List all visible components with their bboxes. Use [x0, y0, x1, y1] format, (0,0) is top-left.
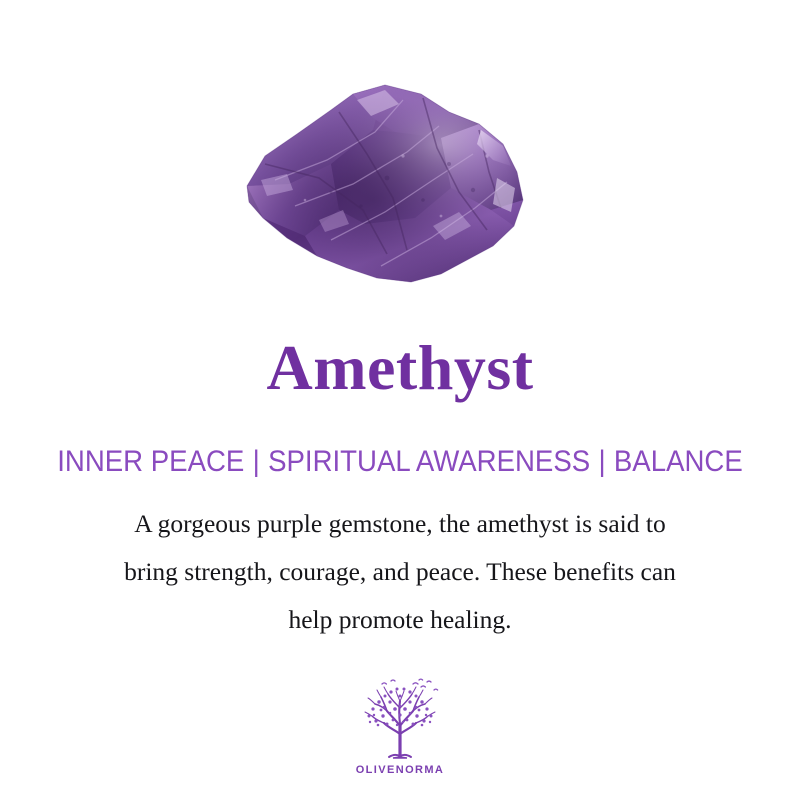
- keyword-separator: |: [244, 441, 268, 483]
- keyword-spiritual-awareness: SPIRITUAL AWARENESS: [268, 445, 590, 478]
- description-line: bring strength, courage, and peace. Thes…: [50, 548, 750, 596]
- keyword-separator: |: [590, 441, 614, 483]
- keyword-inner-peace: INNER PEACE: [57, 445, 244, 478]
- keyword-line: INNER PEACE|SPIRITUAL AWARENESS|BALANCE: [32, 441, 768, 483]
- amethyst-hero-image: [0, 60, 800, 310]
- description-paragraph: A gorgeous purple gemstone, the amethyst…: [50, 500, 750, 644]
- description-line: help promote healing.: [50, 596, 750, 644]
- description-line: A gorgeous purple gemstone, the amethyst…: [50, 500, 750, 548]
- birds-icon: [382, 679, 438, 690]
- brand-wordmark: OLIVENORMA: [0, 764, 800, 776]
- brand-logo: OLIVENORMA: [0, 678, 800, 776]
- amethyst-crystal-icon: [235, 60, 565, 310]
- tree-of-life-icon: [357, 678, 443, 762]
- keyword-balance: BALANCE: [614, 445, 743, 478]
- gemstone-info-card: Amethyst INNER PEACE|SPIRITUAL AWARENESS…: [0, 0, 800, 800]
- page-title: Amethyst: [0, 332, 800, 404]
